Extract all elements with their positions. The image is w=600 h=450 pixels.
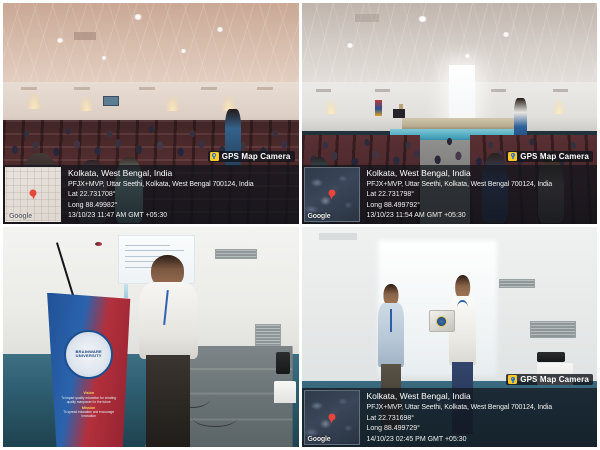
ceiling-light [101,56,107,60]
wall-panel [316,89,331,92]
gps-map-camera-badge: GPS Map Camera [506,151,593,162]
ceiling-light [502,32,510,37]
gps-map-camera-badge: GPS Map Camera [208,151,295,162]
ceiling-vent [355,14,379,22]
photo-panel-top-right[interactable]: GPS Map Camera Google Kolkata, West Beng… [302,3,598,224]
ceiling-vent [74,32,96,40]
side-table [274,381,296,403]
google-watermark: Google [9,213,32,220]
map-pin-icon [328,190,335,197]
wall-panel [201,87,217,90]
gps-map-thumbnail[interactable]: Google [304,167,360,222]
ceiling-light [346,43,354,48]
flag-banner [375,100,382,116]
person-collar [457,300,468,316]
podium: BRAINWARE UNIVERSITY Vision To impart qu… [41,293,136,447]
wall-sconce [325,100,337,114]
gps-latitude: Lat 22.731708° [68,190,295,199]
map-pin-icon [30,190,37,197]
gps-address: PFJX+MVP, Uttar Seethi, Kolkata, West Be… [367,403,594,412]
speaker-shirt [139,282,198,359]
gps-pin-icon [508,375,517,384]
wall-grille [255,324,281,346]
projector-screen [449,65,475,122]
gps-overlay-panel: Google Kolkata, West Bengal, India PFJX+… [3,165,299,224]
gps-overlay-panel: Google Kolkata, West Bengal, India PFJX+… [302,165,598,224]
gps-longitude: Long 88.499729° [367,424,594,433]
ceiling-light [133,14,143,20]
person-lanyard [390,309,392,332]
gps-map-camera-badge: GPS Map Camera [506,374,593,385]
av-equipment [276,352,290,374]
wall-sconce [80,96,93,111]
gps-map-thumbnail[interactable]: Google [5,167,61,222]
wall-panel [74,87,90,90]
speaker-trousers [146,355,190,447]
gps-longitude: Long 88.499792° [367,201,594,210]
gps-timestamp: 13/10/23 11:54 AM GMT +05:30 [367,211,594,220]
wall-grille [530,321,576,338]
gps-pin-icon [210,152,219,161]
wall-panel [257,87,273,90]
gps-text-block: Kolkata, West Bengal, India PFJX+MVP, Ut… [362,388,598,447]
memento-emblem [436,316,447,327]
av-equipment [537,352,565,362]
photo-panel-bottom-right[interactable]: GPS Map Camera Google Kolkata, West Beng… [302,227,598,448]
photo-collage: GPS Map Camera Google Kolkata, West Beng… [0,0,600,450]
gps-text-block: Kolkata, West Bengal, India PFJX+MVP, Ut… [63,165,299,224]
ceiling-strip [319,233,357,240]
wall-sconce [166,96,179,111]
map-pin-icon [328,413,335,420]
podium-mission-body: To spread education and encourage innova… [63,410,114,418]
gps-longitude: Long 88.49982° [68,201,295,210]
wall-panel [553,89,568,92]
wall-panel [375,89,390,92]
gps-overlay-panel: Google Kolkata, West Bengal, India PFJX+… [302,388,598,447]
speaker-box [393,109,405,118]
podium-seal-text: BRAINWARE UNIVERSITY [66,350,111,358]
gps-text-block: Kolkata, West Bengal, India PFJX+MVP, Ut… [362,165,598,224]
microphone-icon [95,242,102,246]
water-bottle [124,284,128,298]
wall-panel [21,87,37,90]
gps-city: Kolkata, West Bengal, India [68,168,295,179]
gps-city: Kolkata, West Bengal, India [367,168,594,179]
photo-panel-bottom-left[interactable]: BRAINWARE UNIVERSITY Vision To impart qu… [3,227,299,448]
gps-badge-label: GPS Map Camera [520,375,589,384]
wall-sconce [27,93,41,109]
gps-map-thumbnail[interactable]: Google [304,390,360,445]
wall-sconce [553,100,565,114]
speaker-person [139,255,198,447]
google-watermark: Google [308,436,331,443]
wall-panel [491,89,506,92]
gps-timestamp: 14/10/23 02:45 PM GMT +05:30 [367,435,594,444]
gps-badge-label: GPS Map Camera [222,152,291,161]
ceiling [3,3,299,91]
gps-badge-label: GPS Map Camera [520,152,589,161]
wall-panel [139,87,155,90]
gps-pin-icon [508,152,517,161]
ac-vent [215,249,257,259]
google-watermark: Google [308,213,331,220]
memento-plaque [429,310,455,332]
gps-address: PFJX+MVP, Uttar Seethi, Kolkata, West Be… [68,180,295,189]
podium-vision-body: To impart quality education for creating… [61,396,116,404]
ac-vent [499,279,535,288]
ceiling-light [464,54,471,58]
gps-latitude: Lat 22.731698° [367,414,594,423]
gps-address: PFJX+MVP, Uttar Seethi, Kolkata, West Be… [367,180,594,189]
podium-vision-mission: Vision To impart quality education for c… [57,391,121,418]
podium-university-seal: BRAINWARE UNIVERSITY [64,330,113,379]
gps-city: Kolkata, West Bengal, India [367,391,594,402]
gps-latitude: Lat 22.731798° [367,190,594,199]
wall-monitor [103,96,119,106]
gps-timestamp: 13/10/23 11:47 AM GMT +05:30 [68,211,295,220]
photo-panel-top-left[interactable]: GPS Map Camera Google Kolkata, West Beng… [3,3,299,224]
